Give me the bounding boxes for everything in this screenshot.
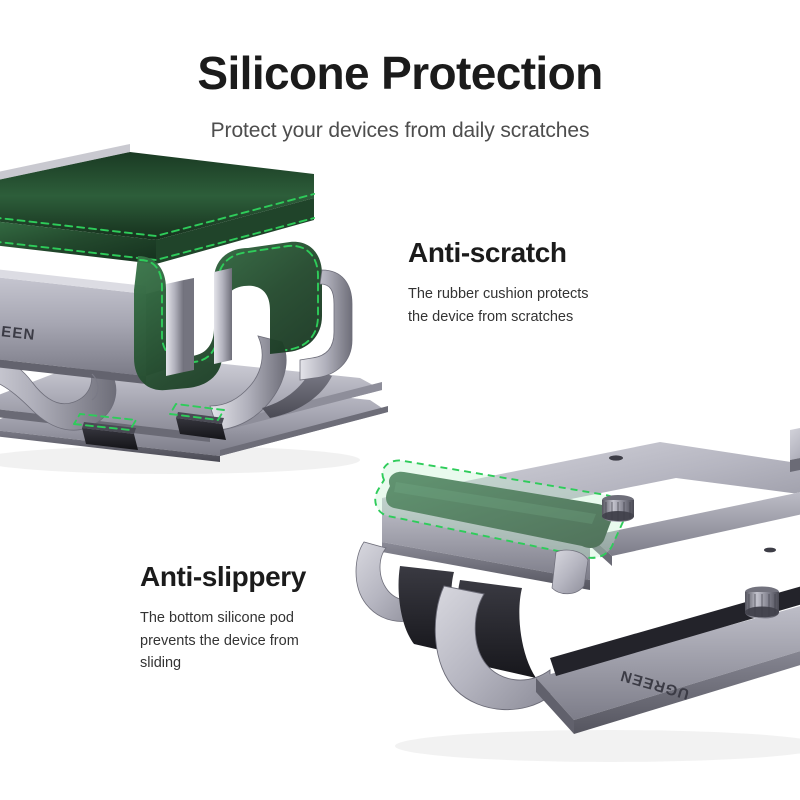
feature-body-line: sliding xyxy=(140,652,380,674)
screw-slot-hole-lower xyxy=(764,548,776,553)
screw-slot-hole-upper xyxy=(609,455,623,460)
product-image-bottom-stand: UGREEN xyxy=(360,390,800,780)
feature-body-anti-slippery: The bottom silicone pod prevents the dev… xyxy=(140,607,380,674)
product-image-top-stand: UGREEN xyxy=(0,160,400,490)
feature-anti-slippery: Anti-slippery The bottom silicone pod pr… xyxy=(140,562,380,675)
product-marketing-image: Silicone Protection Protect your devices… xyxy=(0,0,800,800)
thumbscrew-lower xyxy=(745,587,779,619)
header-block: Silicone Protection Protect your devices… xyxy=(0,0,800,141)
feature-title-anti-scratch: Anti-scratch xyxy=(408,238,658,267)
page-title: Silicone Protection xyxy=(0,0,800,96)
feature-body-anti-scratch: The rubber cushion protects the device f… xyxy=(408,283,658,328)
page-subtitle: Protect your devices from daily scratche… xyxy=(0,96,800,141)
feature-anti-scratch: Anti-scratch The rubber cushion protects… xyxy=(408,238,658,328)
feature-body-line: The bottom silicone pod xyxy=(140,607,380,629)
thumbscrew-upper xyxy=(602,495,634,522)
feature-body-line: the device from scratches xyxy=(408,306,658,328)
feature-title-anti-slippery: Anti-slippery xyxy=(140,562,380,591)
feature-body-line: The rubber cushion protects xyxy=(408,283,658,305)
feature-body-line: prevents the device from xyxy=(140,630,380,652)
